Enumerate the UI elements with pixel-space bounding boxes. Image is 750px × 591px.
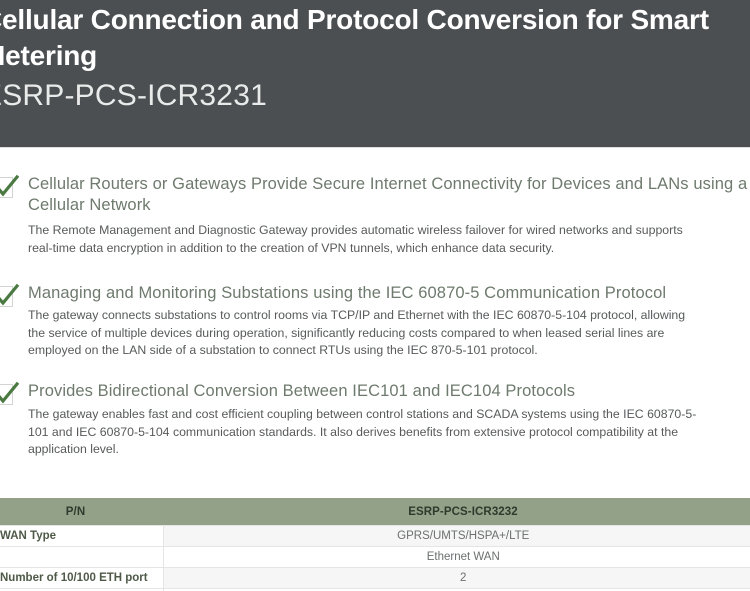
feature-list: Cellular Routers or Gateways Provide Sec… bbox=[0, 148, 750, 485]
table-header-cell-model: ESRP-PCS-ICR3232 bbox=[163, 498, 750, 526]
table-cell-label: Number of 10/100 ETH port bbox=[0, 568, 163, 589]
feature-title: Provides Bidirectional Conversion Betwee… bbox=[28, 381, 750, 402]
table-cell-value: 2 bbox=[163, 568, 750, 589]
feature-description: The gateway enables fast and cost effici… bbox=[28, 406, 698, 459]
product-datasheet-page: Cellular Connection and Protocol Convers… bbox=[0, 0, 750, 591]
feature-item: Cellular Routers or Gateways Provide Sec… bbox=[0, 174, 750, 257]
page-title: Cellular Connection and Protocol Convers… bbox=[0, 2, 750, 74]
table-header-cell-pn: P/N bbox=[0, 498, 163, 526]
green-check-icon bbox=[0, 177, 13, 198]
table-row: Number of 10/100 ETH port 2 bbox=[0, 568, 750, 589]
hero-header: Cellular Connection and Protocol Convers… bbox=[0, 0, 750, 148]
green-check-icon bbox=[0, 384, 13, 405]
table-row: WAN Type GPRS/UMTS/HSPA+/LTE bbox=[0, 526, 750, 547]
table-cell-label: WAN Type bbox=[0, 526, 163, 547]
product-model-number: ESRP-PCS-ICR3231 bbox=[0, 76, 750, 116]
specification-table: P/N ESRP-PCS-ICR3232 WAN Type GPRS/UMTS/… bbox=[0, 498, 750, 591]
feature-item: Managing and Monitoring Substations usin… bbox=[0, 283, 750, 360]
specification-table-container: P/N ESRP-PCS-ICR3232 WAN Type GPRS/UMTS/… bbox=[0, 485, 750, 591]
feature-title: Cellular Routers or Gateways Provide Sec… bbox=[28, 174, 750, 216]
feature-item: Provides Bidirectional Conversion Betwee… bbox=[0, 381, 750, 459]
table-header-row: P/N ESRP-PCS-ICR3232 bbox=[0, 498, 750, 526]
table-cell-value: GPRS/UMTS/HSPA+/LTE bbox=[163, 526, 750, 547]
table-row: Ethernet WAN bbox=[0, 547, 750, 568]
feature-description: The gateway connects substations to cont… bbox=[28, 307, 698, 360]
feature-title: Managing and Monitoring Substations usin… bbox=[28, 283, 750, 304]
table-cell-label bbox=[0, 547, 163, 568]
green-check-icon bbox=[0, 286, 13, 307]
table-cell-value: Ethernet WAN bbox=[163, 547, 750, 568]
feature-description: The Remote Management and Diagnostic Gat… bbox=[28, 222, 698, 257]
